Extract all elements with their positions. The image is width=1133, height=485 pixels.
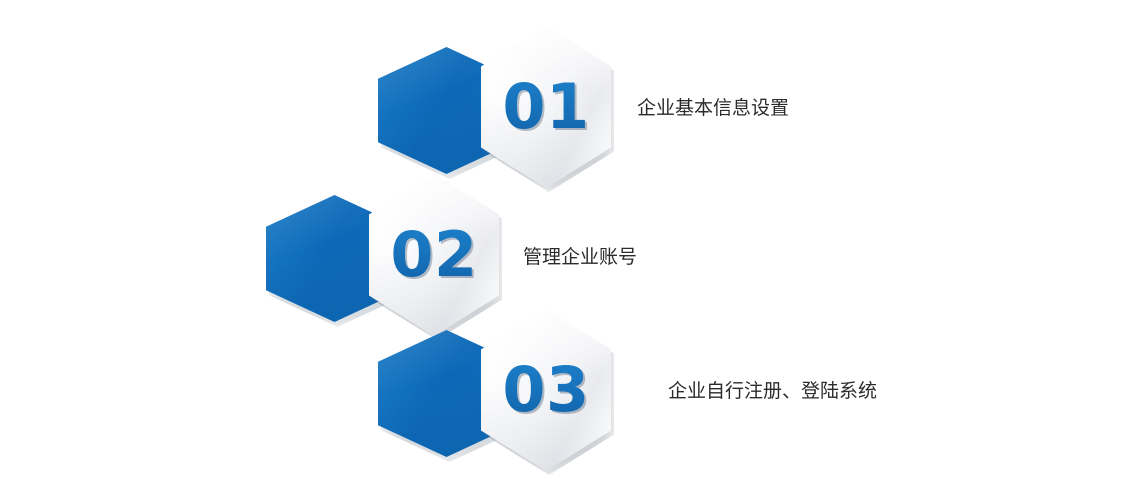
step-label-3: 企业自行注册、登陆系统	[668, 382, 877, 401]
step-number-3: 03	[481, 309, 611, 471]
hexagon-infographic: 01 01 企业基本信息设置 02 02 管理企业账号 03 03 企业自行注册…	[0, 0, 1133, 485]
step-number-1: 01	[481, 26, 611, 188]
step-label-2: 管理企业账号	[523, 248, 637, 267]
step-label-1: 企业基本信息设置	[637, 99, 789, 118]
step-number-2: 02	[369, 174, 499, 336]
